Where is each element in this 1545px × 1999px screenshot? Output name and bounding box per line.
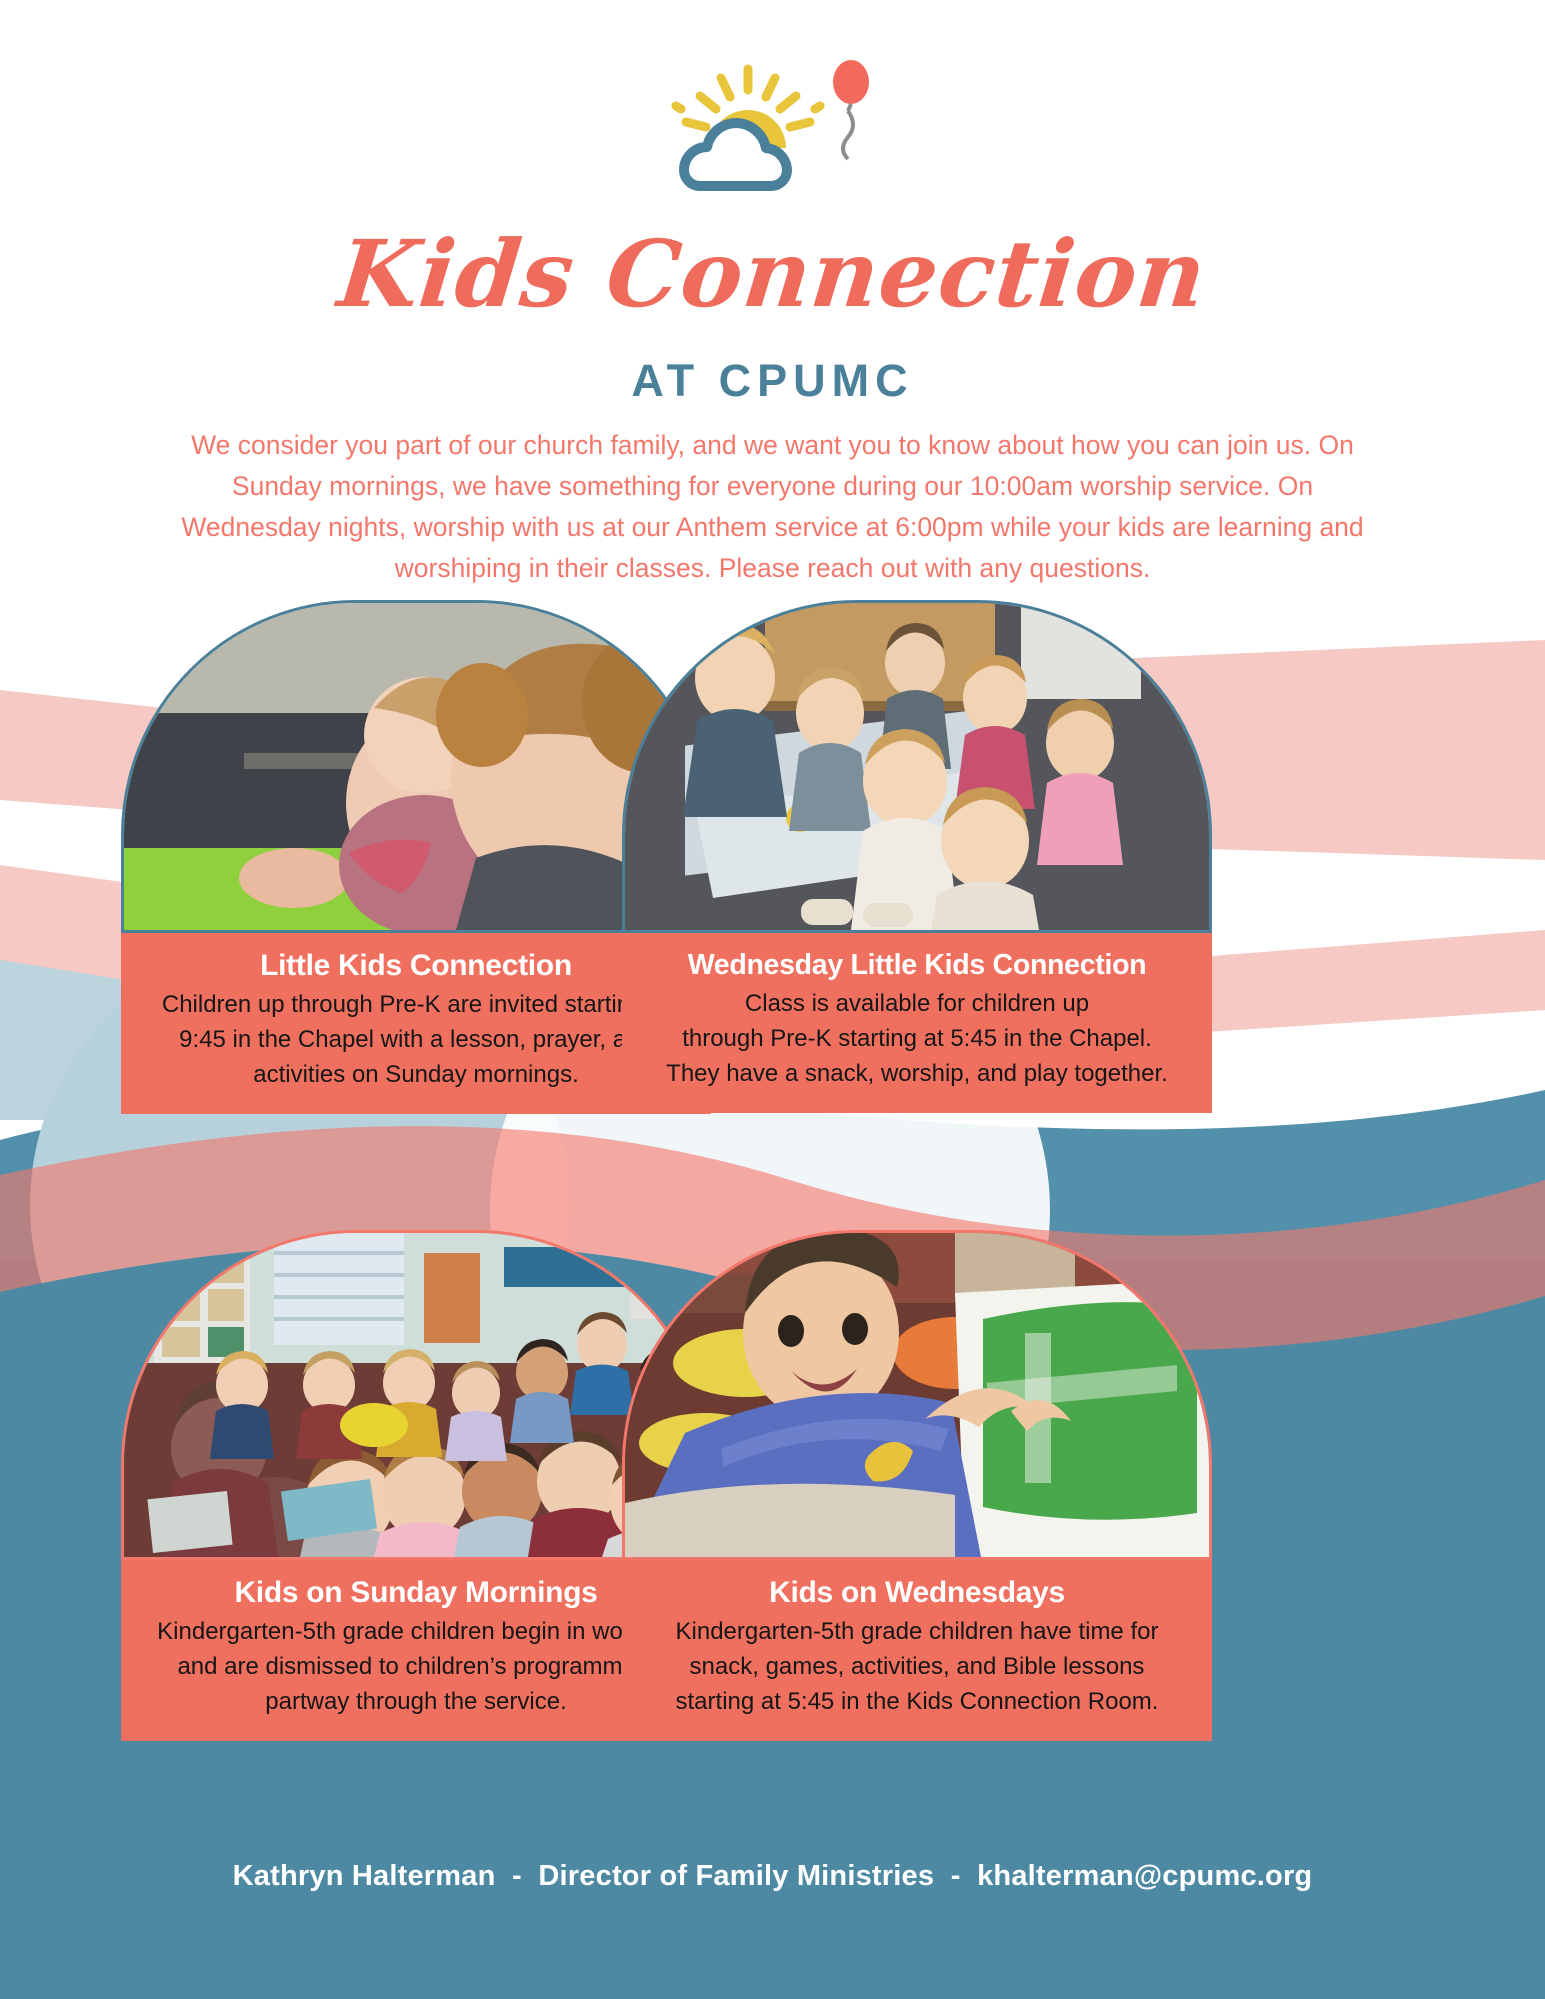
card-title: Little Kids Connection bbox=[139, 949, 693, 983]
footer-role: Director of Family Ministries bbox=[538, 1860, 934, 1892]
card-body: Children up through Pre-K are invited st… bbox=[139, 987, 693, 1092]
card-body-line: Kindergarten-5th grade children begin in… bbox=[139, 1614, 693, 1649]
photo-little-kids bbox=[124, 603, 708, 930]
footer-contact: Kathryn Halterman - Director of Family M… bbox=[0, 1860, 1545, 1893]
footer-email[interactable]: khalterman@cpumc.org bbox=[977, 1860, 1312, 1892]
card-kids-on-wednesdays: Kids on Wednesdays Kindergarten-5th grad… bbox=[622, 1230, 1212, 1741]
page-subtitle: AT CPUMC bbox=[0, 355, 1545, 407]
photo-kids-wednesdays bbox=[625, 1233, 1209, 1557]
intro-paragraph: We consider you part of our church famil… bbox=[160, 425, 1385, 589]
card-body-line: snack, games, activities, and Bible less… bbox=[640, 1649, 1194, 1684]
footer-separator-2: - bbox=[934, 1860, 977, 1892]
footer-separator-1: - bbox=[496, 1860, 539, 1892]
card-body-line: starting at 5:45 in the Kids Connection … bbox=[640, 1684, 1194, 1719]
card-title: Kids on Sunday Mornings bbox=[139, 1576, 693, 1610]
card-body: Kindergarten-5th grade children have tim… bbox=[640, 1614, 1194, 1719]
card-body-line: They have a snack, worship, and play tog… bbox=[640, 1056, 1194, 1091]
card-body-line: and are dismissed to children’s programm… bbox=[139, 1649, 693, 1684]
card-body-line: Children up through Pre-K are invited st… bbox=[139, 987, 693, 1022]
card-body-line: Kindergarten-5th grade children have tim… bbox=[640, 1614, 1194, 1649]
photo-wednesday-little-kids bbox=[625, 603, 1209, 930]
card-body-line: activities on Sunday mornings. bbox=[139, 1057, 693, 1092]
sun-cloud-balloon-icon bbox=[648, 56, 898, 196]
card-body-line: 9:45 in the Chapel with a lesson, prayer… bbox=[139, 1022, 693, 1057]
flyer-page: Kids Connection AT CPUMC We consider you… bbox=[0, 0, 1545, 1999]
card-body: Class is available for children up throu… bbox=[640, 986, 1194, 1091]
card-caption: Kids on Wednesdays Kindergarten-5th grad… bbox=[622, 1560, 1212, 1741]
card-body-line: partway through the service. bbox=[139, 1684, 693, 1719]
page-title: Kids Connection bbox=[0, 228, 1545, 320]
logo bbox=[0, 56, 1545, 196]
card-title: Kids on Wednesdays bbox=[640, 1576, 1194, 1610]
footer-name: Kathryn Halterman bbox=[233, 1860, 496, 1892]
card-photo bbox=[622, 600, 1212, 933]
card-wednesday-little-kids-connection: Wednesday Little Kids Connection Class i… bbox=[622, 600, 1212, 1113]
card-caption: Wednesday Little Kids Connection Class i… bbox=[622, 933, 1212, 1113]
card-body: Kindergarten-5th grade children begin in… bbox=[139, 1614, 693, 1719]
card-title: Wednesday Little Kids Connection bbox=[640, 949, 1194, 982]
card-photo bbox=[622, 1230, 1212, 1560]
card-body-line: through Pre-K starting at 5:45 in the Ch… bbox=[640, 1021, 1194, 1056]
card-body-line: Class is available for children up bbox=[640, 986, 1194, 1021]
photo-kids-sunday bbox=[124, 1233, 708, 1557]
